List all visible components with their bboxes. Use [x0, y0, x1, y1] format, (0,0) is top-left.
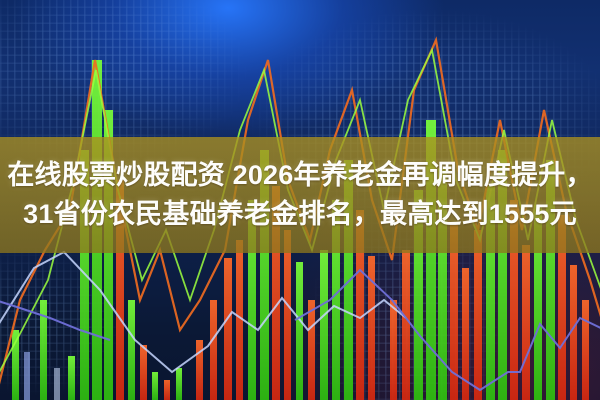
promo-banner: 在线股票炒股配资 2026年养老金再调幅度提升， 31省份农民基础养老金排名，最…	[0, 0, 600, 400]
headline-line-2: 31省份农民基础养老金排名，最高达到1555元	[23, 195, 577, 234]
headline-text-block: 在线股票炒股配资 2026年养老金再调幅度提升， 31省份农民基础养老金排名，最…	[0, 137, 600, 253]
headline-line-1: 在线股票炒股配资 2026年养老金再调幅度提升，	[7, 156, 592, 195]
